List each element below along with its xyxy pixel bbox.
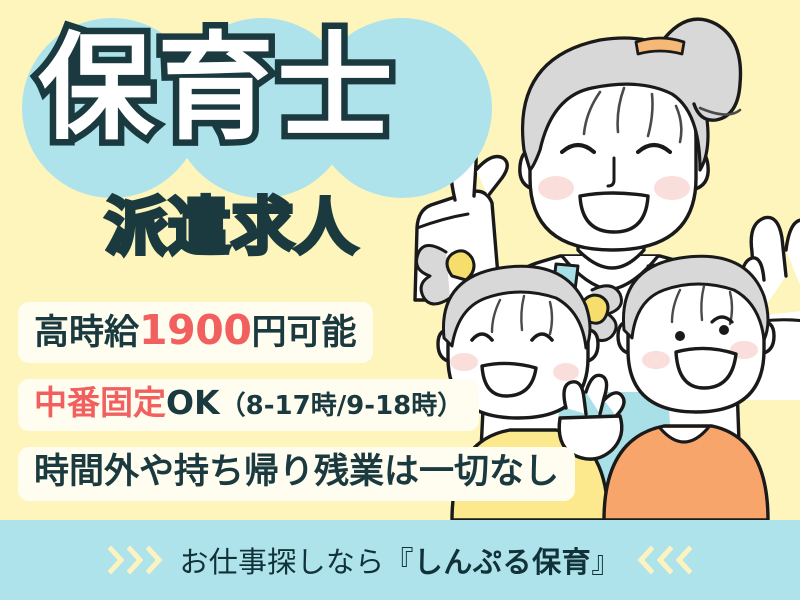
feature-segment: OK [166, 383, 220, 422]
banner-brand-name: しんぷる保育 [414, 545, 591, 579]
feature-row-1: 高時給1900円可能 [18, 302, 558, 379]
bottom-banner: お仕事探しなら『しんぷる保育』 [0, 520, 800, 600]
chevron-left-icon [675, 545, 692, 575]
feature-pill-hourly-wage: 高時給1900円可能 [18, 302, 373, 363]
chevron-left-icon [656, 545, 673, 575]
banner-open-bracket: 『 [384, 545, 413, 579]
chevron-group-left [108, 545, 163, 575]
feature-row-2: 中番固定OK（8-17時/9-18時） [18, 379, 558, 447]
feature-segment-hours: （8-17時/9-18時） [220, 391, 464, 421]
feature-segment: 時間外や持ち帰り残業は一切なし [34, 452, 559, 492]
feature-pill-fixed-shift: 中番固定OK（8-17時/9-18時） [18, 379, 479, 431]
main-title: 保育士 [38, 28, 498, 150]
chevron-group-right [637, 545, 692, 575]
banner-lead-text: お仕事探しなら [179, 545, 384, 579]
feature-pill-no-overtime: 時間外や持ち帰り残業は一切なし [18, 447, 575, 501]
teacher-head [520, 19, 741, 250]
chevron-left-icon [637, 545, 654, 575]
poster-root: 保育士 派遣求人 高時給1900円可能 中番固定OK（8-17時/9-18時） … [0, 0, 800, 600]
feature-segment: 円可能 [252, 313, 357, 353]
feature-segment: 高時給 [34, 313, 139, 353]
banner-close-bracket: 』 [591, 545, 620, 579]
chevron-right-icon [108, 545, 125, 575]
feature-list: 高時給1900円可能 中番固定OK（8-17時/9-18時） 時間外や持ち帰り残… [18, 302, 558, 517]
feature-segment-highlight: 1900 [139, 306, 251, 354]
feature-row-3: 時間外や持ち帰り残業は一切なし [18, 447, 558, 517]
teacher-right-hand [734, 217, 800, 400]
chevron-right-icon [146, 545, 163, 575]
chevron-right-icon [127, 545, 144, 575]
child-boy [604, 256, 774, 520]
feature-segment-highlight: 中番固定 [34, 383, 166, 422]
sub-title: 派遣求人 [105, 196, 358, 258]
banner-text: お仕事探しなら『しんぷる保育』 [179, 539, 620, 581]
